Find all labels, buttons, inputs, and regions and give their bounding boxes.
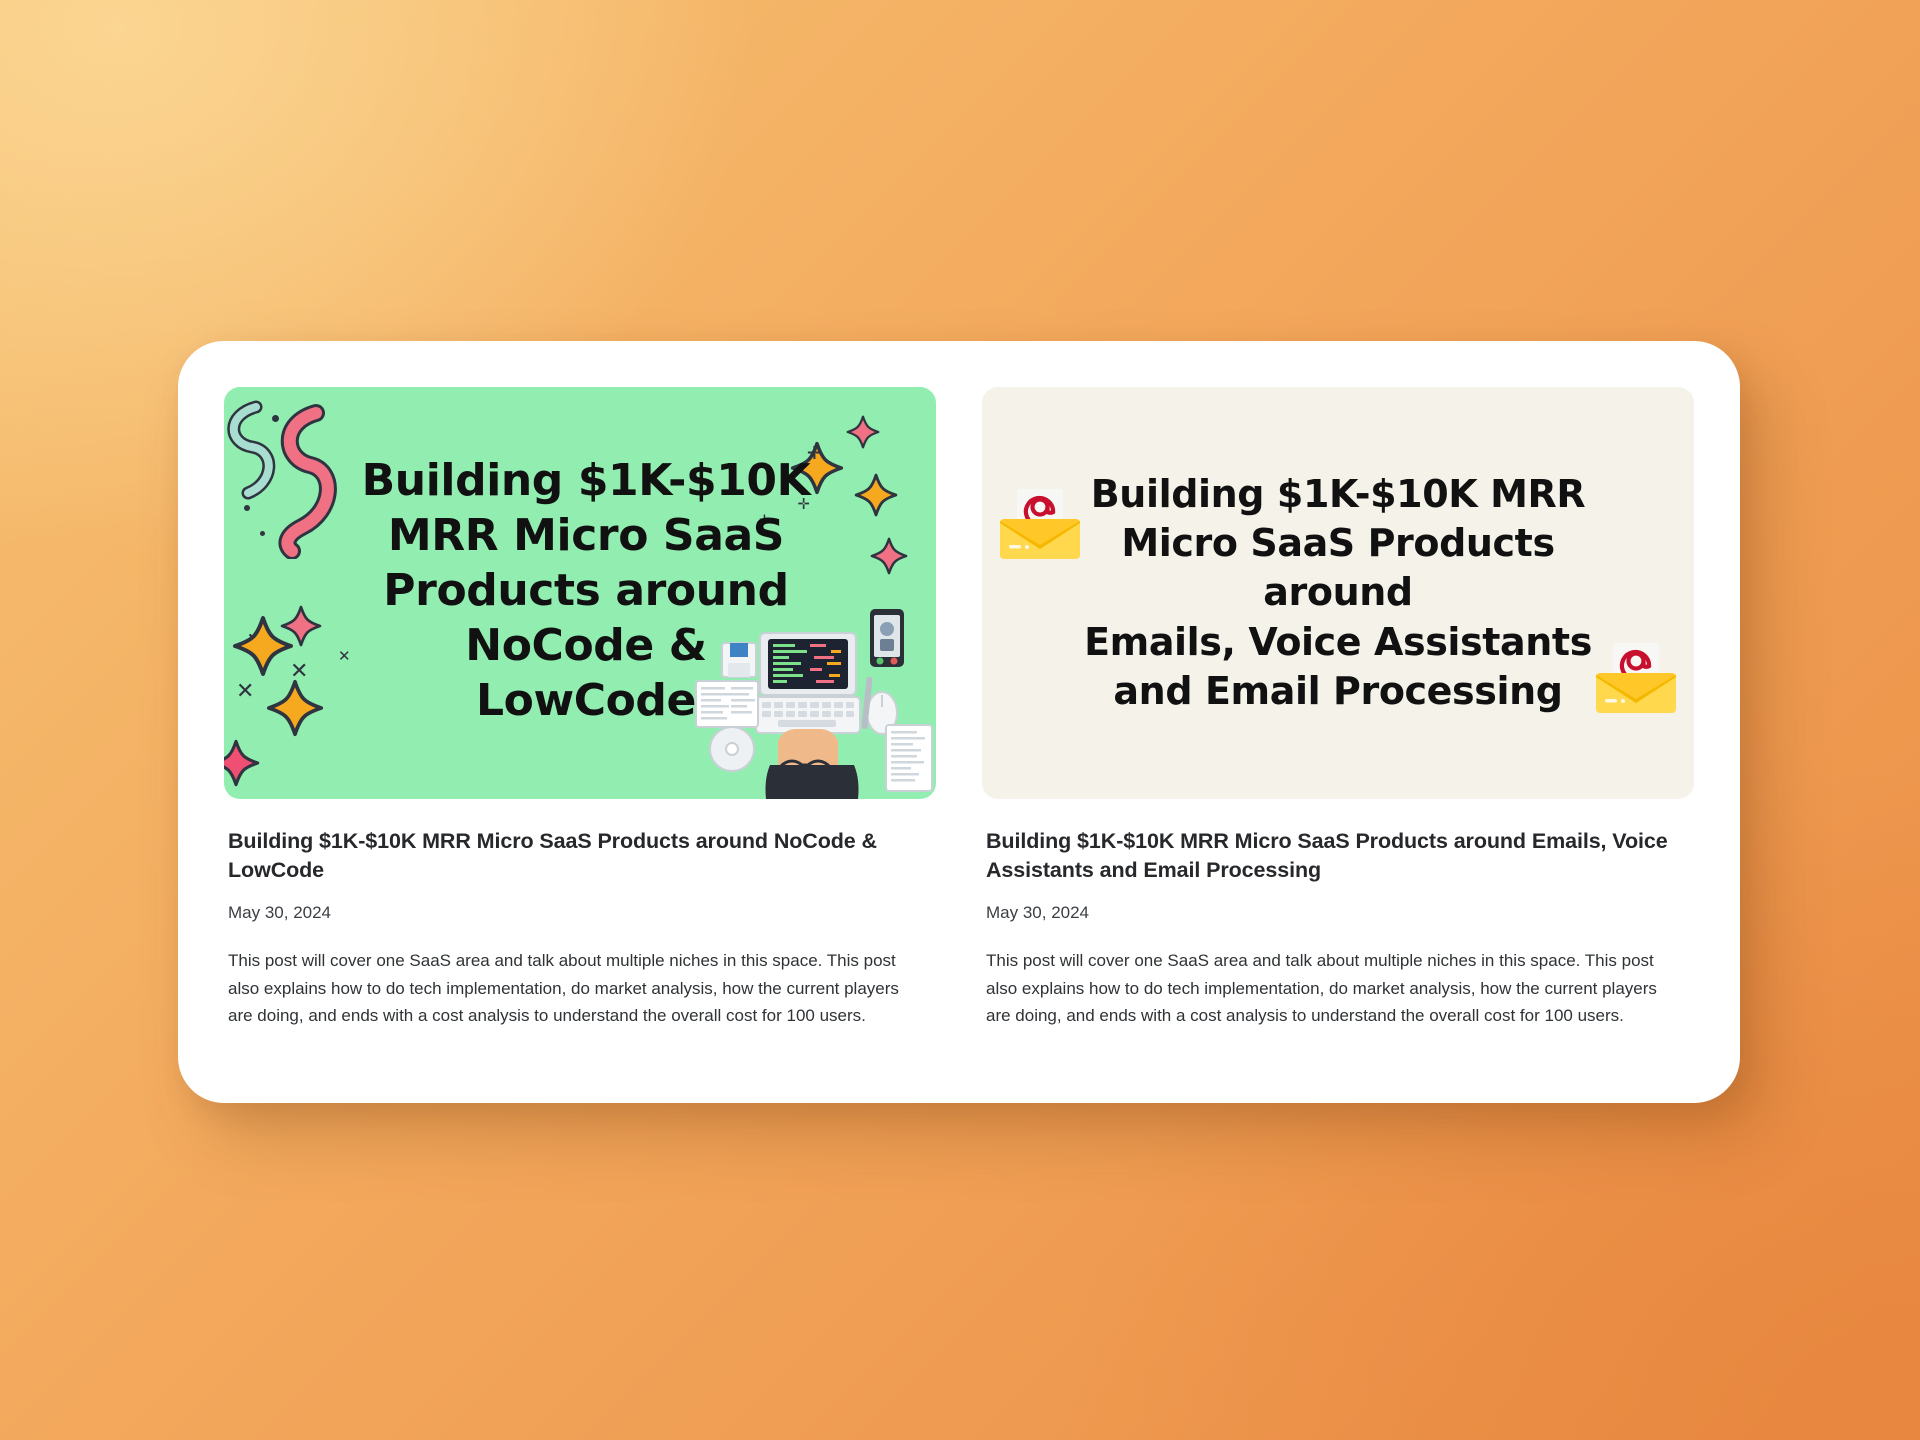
post-description: This post will cover one SaaS area and t… bbox=[986, 947, 1686, 1030]
sparkle-star-decoration bbox=[854, 473, 898, 517]
sparkle-star-decoration bbox=[280, 605, 322, 647]
cross-mark-decoration: ✕ bbox=[290, 659, 308, 684]
sparkle-star-decoration bbox=[266, 679, 324, 737]
post-meta-nocode: Building $1K-$10K MRR Micro SaaS Product… bbox=[224, 799, 936, 1030]
blog-post-card-nocode[interactable]: ✕ ✕ ✕ ✕ bbox=[224, 387, 936, 1103]
sparkle-star-decoration bbox=[870, 537, 908, 575]
post-description: This post will cover one SaaS area and t… bbox=[228, 947, 928, 1030]
cross-mark-decoration: ✕ bbox=[246, 629, 264, 654]
post-hero-image-emails[interactable]: Building $1K-$10K MRR Micro SaaS Product… bbox=[982, 387, 1694, 799]
dot-decoration bbox=[244, 505, 250, 511]
post-title[interactable]: Building $1K-$10K MRR Micro SaaS Product… bbox=[986, 827, 1690, 885]
hero-title-emails: Building $1K-$10K MRR Micro SaaS Product… bbox=[1054, 470, 1622, 717]
post-hero-image-nocode[interactable]: ✕ ✕ ✕ ✕ bbox=[224, 387, 936, 799]
blog-post-card-emails[interactable]: Building $1K-$10K MRR Micro SaaS Product… bbox=[982, 387, 1694, 1103]
sparkle-star-decoration bbox=[232, 615, 294, 677]
cross-mark-decoration: ✕ bbox=[236, 679, 254, 704]
post-title[interactable]: Building $1K-$10K MRR Micro SaaS Product… bbox=[228, 827, 932, 885]
squiggle-decoration bbox=[224, 399, 288, 509]
blog-post-list-panel: ✕ ✕ ✕ ✕ bbox=[178, 341, 1740, 1103]
hero-title-nocode: Building $1K-$10K MRR Micro SaaS Product… bbox=[326, 453, 835, 734]
sparkle-star-decoration bbox=[846, 415, 880, 449]
post-meta-emails: Building $1K-$10K MRR Micro SaaS Product… bbox=[982, 799, 1694, 1030]
dot-decoration bbox=[272, 415, 279, 422]
dot-decoration bbox=[260, 531, 265, 536]
post-date: May 30, 2024 bbox=[228, 903, 932, 923]
post-date: May 30, 2024 bbox=[986, 903, 1690, 923]
sparkle-star-decoration bbox=[224, 739, 260, 787]
